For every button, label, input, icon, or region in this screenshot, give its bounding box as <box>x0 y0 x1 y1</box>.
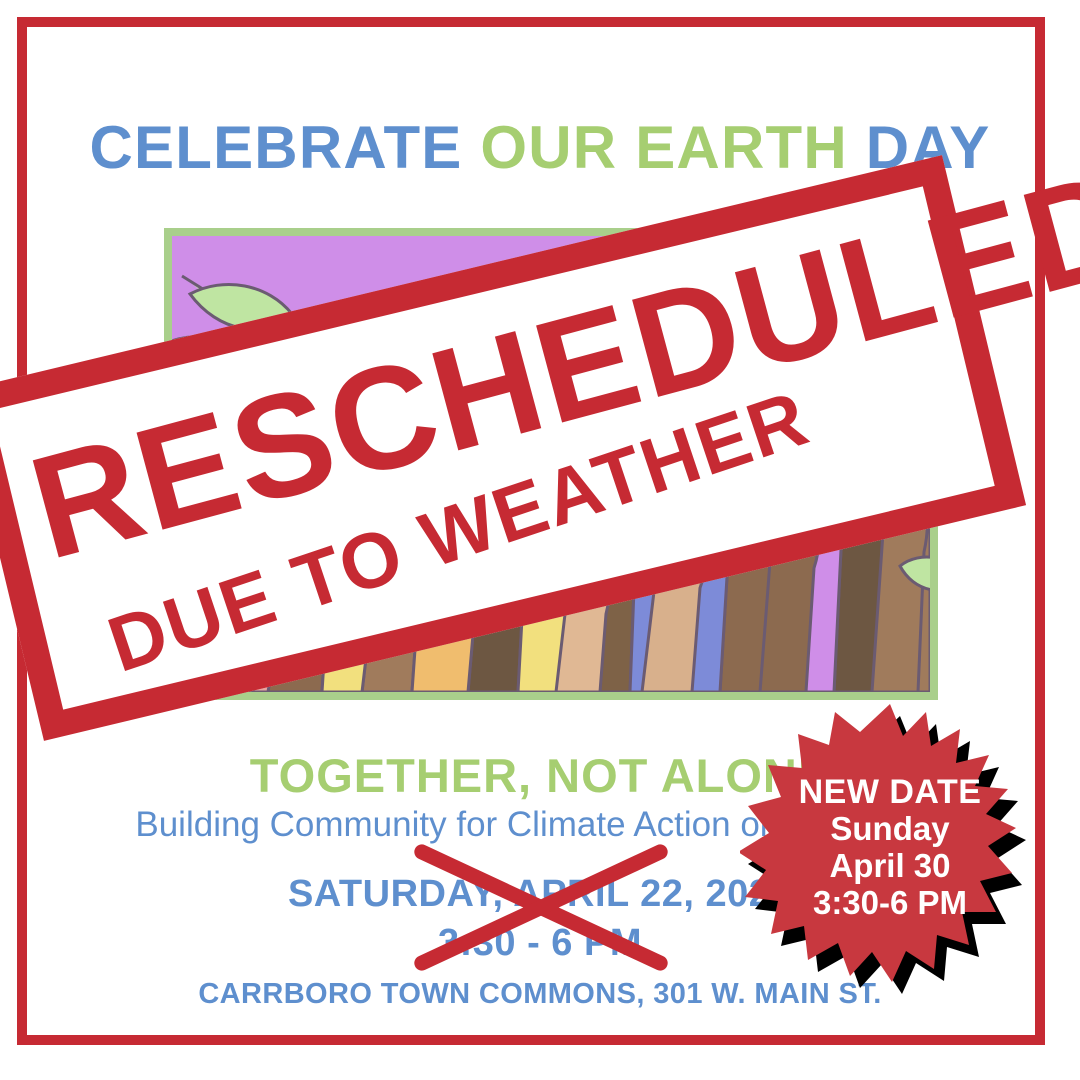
headline-part-celebrate: CELEBRATE <box>89 114 480 181</box>
poster-canvas: CELEBRATE OUR EARTH DAY .s{stroke:#6b5b7… <box>0 0 1080 1080</box>
new-date-badge: NEW DATE Sunday April 30 3:30-6 PM <box>740 700 1040 1000</box>
headline-part-our-earth: OUR EARTH <box>480 114 865 181</box>
badge-line-2: Sunday <box>830 811 949 848</box>
badge-line-4: 3:30-6 PM <box>813 885 967 922</box>
badge-text-block: NEW DATE Sunday April 30 3:30-6 PM <box>740 700 1040 1000</box>
badge-line-1: NEW DATE <box>799 773 982 811</box>
x-strikeout <box>418 843 664 971</box>
badge-line-3: April 30 <box>829 848 950 885</box>
